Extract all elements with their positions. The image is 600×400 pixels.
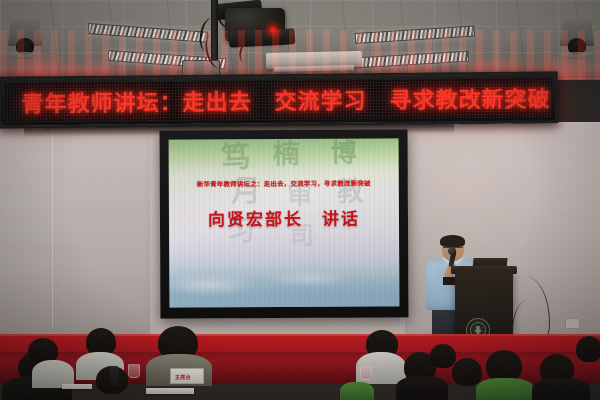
ceiling-speaker-right [556, 14, 598, 62]
wall-seam [52, 128, 53, 328]
slide-subtitle: 新华青年教师讲坛之：走出去，交流学习，寻求教改新突破 [175, 178, 393, 188]
audience-shoulders [532, 378, 590, 400]
speaker-mount [6, 52, 44, 59]
ceiling-speaker-left [4, 14, 46, 62]
slide-cloud-band [169, 262, 399, 307]
microphone-capsule [448, 247, 456, 255]
paper-cup [128, 364, 140, 378]
lecture-hall-photo: 青年教师讲坛：走出去 交流学习 寻求教改新突破 笃 楠 博 月 审 教 习 司 … [0, 0, 600, 400]
projection-screen: 笃 楠 博 月 审 教 习 司 新华青年教师讲坛之：走出去，交流学习，寻求教改新… [169, 138, 400, 307]
watermark-character: 博 [331, 141, 357, 167]
seated-audience: 主席台 [0, 330, 600, 400]
wall-power-outlet [565, 318, 580, 329]
audience-head [452, 358, 482, 386]
paper-sheets [146, 388, 194, 394]
audience-head [576, 336, 600, 362]
water-bottle [110, 366, 119, 386]
speaker-mount [558, 52, 596, 59]
slide-title: 向贤宏部长 讲话 [175, 204, 393, 230]
presenter-hair [440, 235, 465, 247]
audience-shoulders [396, 376, 448, 400]
name-card-text: 主席台 [175, 374, 191, 381]
audience-head [430, 344, 456, 368]
ceiling [0, 0, 600, 80]
led-scrolling-banner: 青年教师讲坛：走出去 交流学习 寻求教改新突破 [0, 71, 558, 128]
paper-sheets [62, 384, 92, 389]
watermark-character: 笃 [220, 142, 252, 174]
paper-cup [360, 366, 372, 380]
projection-screen-frame: 笃 楠 博 月 审 教 习 司 新华青年教师讲坛之：走出去，交流学习，寻求教改新… [160, 129, 409, 318]
projector-power-led-icon [270, 27, 276, 33]
audience-shoulders [340, 382, 374, 400]
wall-panel-left [0, 122, 150, 337]
led-banner-screen: 青年教师讲坛：走出去 交流学习 寻求教改新突破 [4, 77, 552, 122]
name-card: 主席台 [170, 368, 204, 384]
led-banner-text: 青年教师讲坛：走出去 交流学习 寻求教改新突破 [21, 81, 550, 118]
watermark-character: 楠 [273, 141, 300, 168]
audience-shoulders [476, 378, 534, 400]
